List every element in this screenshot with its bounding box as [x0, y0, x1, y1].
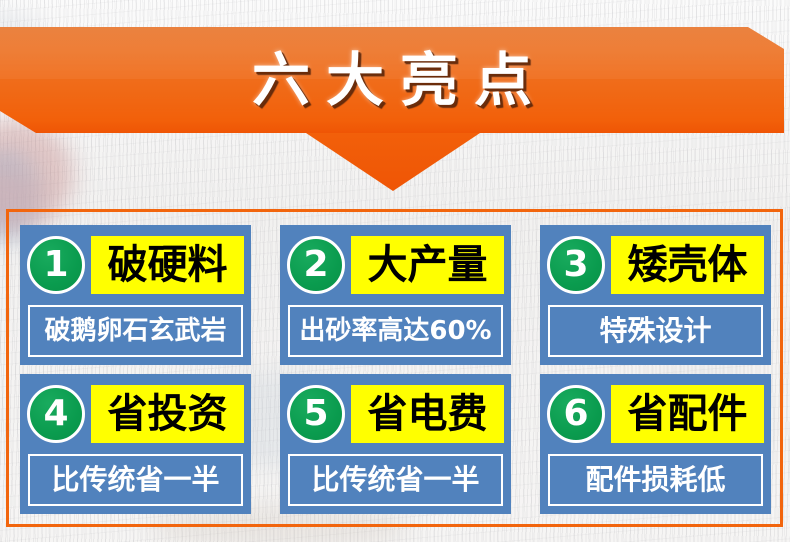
number-badge-icon: 5	[287, 385, 345, 443]
feature-headline: 省配件	[611, 385, 764, 443]
card-header-row: 2 大产量	[287, 232, 504, 298]
banner-down-arrow-icon	[303, 131, 483, 191]
promo-infographic: 六大亮点 1 破硬料 破鹅卵石玄武岩 2 大产量 出砂率高达60% 3	[0, 0, 790, 542]
feature-headline: 省电费	[351, 385, 504, 443]
card-header-row: 4 省投资	[27, 381, 244, 447]
number-badge-icon: 3	[547, 236, 605, 294]
feature-headline: 破硬料	[91, 236, 244, 294]
page-title: 六大亮点	[0, 27, 784, 133]
feature-card-6[interactable]: 6 省配件 配件损耗低	[540, 374, 771, 514]
feature-grid: 1 破硬料 破鹅卵石玄武岩 2 大产量 出砂率高达60% 3 矮壳体 特殊设计	[20, 225, 771, 514]
feature-card-2[interactable]: 2 大产量 出砂率高达60%	[280, 225, 511, 365]
number-badge-icon: 1	[27, 236, 85, 294]
feature-headline: 矮壳体	[611, 236, 764, 294]
card-header-row: 5 省电费	[287, 381, 504, 447]
number-badge-icon: 4	[27, 385, 85, 443]
feature-subline: 比传统省一半	[288, 454, 503, 506]
feature-card-1[interactable]: 1 破硬料 破鹅卵石玄武岩	[20, 225, 251, 365]
feature-subline: 特殊设计	[548, 305, 763, 357]
number-badge-icon: 2	[287, 236, 345, 294]
feature-card-4[interactable]: 4 省投资 比传统省一半	[20, 374, 251, 514]
feature-subline: 比传统省一半	[28, 454, 243, 506]
feature-headline: 大产量	[351, 236, 504, 294]
feature-subline: 出砂率高达60%	[288, 305, 503, 357]
number-badge-icon: 6	[547, 385, 605, 443]
feature-card-3[interactable]: 3 矮壳体 特殊设计	[540, 225, 771, 365]
feature-panel: 1 破硬料 破鹅卵石玄武岩 2 大产量 出砂率高达60% 3 矮壳体 特殊设计	[6, 209, 783, 527]
feature-card-5[interactable]: 5 省电费 比传统省一半	[280, 374, 511, 514]
card-header-row: 6 省配件	[547, 381, 764, 447]
feature-headline: 省投资	[91, 385, 244, 443]
card-header-row: 1 破硬料	[27, 232, 244, 298]
feature-subline: 配件损耗低	[548, 454, 763, 506]
feature-subline: 破鹅卵石玄武岩	[28, 305, 243, 357]
card-header-row: 3 矮壳体	[547, 232, 764, 298]
